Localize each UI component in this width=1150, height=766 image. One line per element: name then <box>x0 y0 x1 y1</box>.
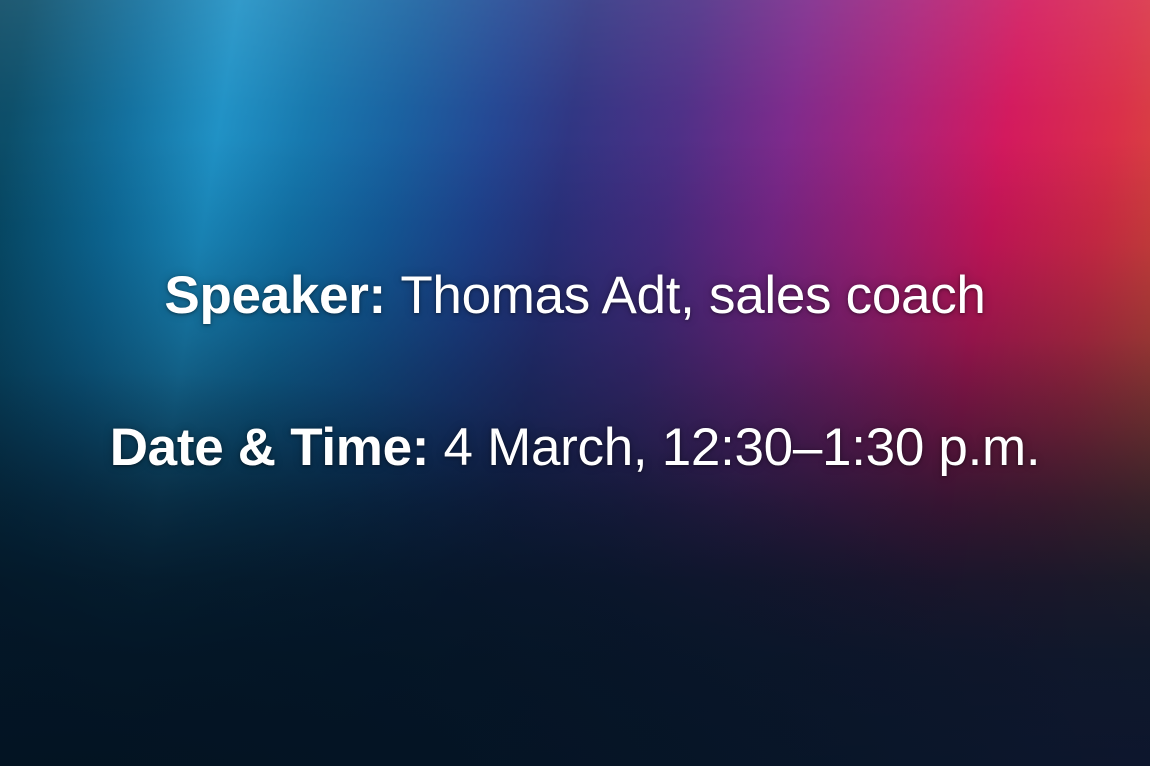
speaker-line: Speaker: Thomas Adt, sales coach <box>0 268 1150 324</box>
speaker-value: Thomas Adt, sales coach <box>400 266 985 325</box>
speaker-label: Speaker: <box>164 266 400 325</box>
datetime-label: Date & Time: <box>110 418 444 477</box>
event-slide: Speaker: Thomas Adt, sales coach Date & … <box>0 0 1150 766</box>
datetime-value: 4 March, 12:30–1:30 p.m. <box>444 418 1041 477</box>
datetime-line: Date & Time: 4 March, 12:30–1:30 p.m. <box>0 420 1150 476</box>
slide-text-block: Speaker: Thomas Adt, sales coach Date & … <box>0 268 1150 476</box>
